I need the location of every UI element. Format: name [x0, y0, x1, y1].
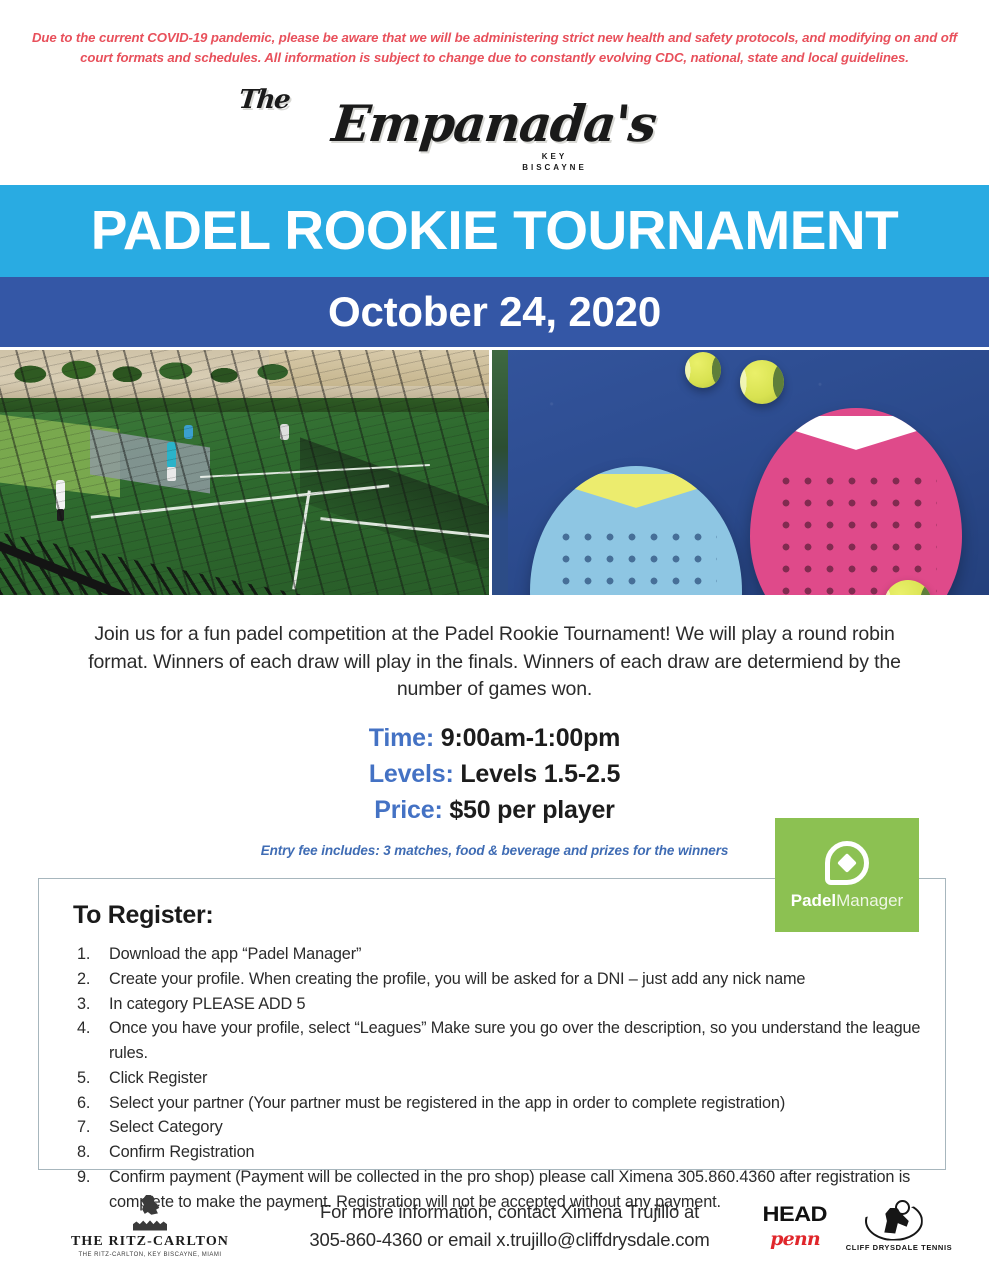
padel-manager-icon	[825, 841, 869, 885]
ritz-carlton-logo: THE RITZ-CARLTON THE RITZ-CARLTON, KEY B…	[0, 1195, 300, 1258]
covid-notice: Due to the current COVID-19 pandemic, pl…	[0, 0, 989, 69]
list-item: Select Category	[69, 1115, 945, 1140]
lion-crest-icon	[133, 1195, 167, 1231]
photo-strip	[0, 350, 989, 595]
detail-row-time: Time: 9:00am-1:00pm	[0, 720, 989, 756]
tournament-date-banner: October 24, 2020	[0, 277, 989, 347]
tennis-ball	[740, 360, 784, 404]
detail-row-levels: Levels: Levels 1.5-2.5	[0, 756, 989, 792]
ritz-carlton-name: THE RITZ-CARLTON	[71, 1234, 229, 1250]
padel-manager-word-light: Manager	[836, 891, 903, 910]
event-details: Time: 9:00am-1:00pm Levels: Levels 1.5-2…	[0, 720, 989, 829]
list-item: Once you have your profile, select “Leag…	[69, 1016, 945, 1066]
tennis-player-icon	[865, 1201, 923, 1241]
empanadas-logo: TheEmpanada's KEY BISCAYNE	[0, 75, 989, 185]
detail-value-time: 9:00am-1:00pm	[441, 724, 620, 752]
head-penn-logo: HEAD penn	[766, 1203, 824, 1250]
padel-rackets-photo	[492, 350, 989, 595]
tournament-title-banner: PADEL ROOKIE TOURNAMENT	[0, 185, 989, 277]
padel-manager-logo: PadelManager	[775, 818, 919, 932]
detail-value-levels: Levels 1.5-2.5	[460, 760, 620, 788]
padel-manager-wordmark: PadelManager	[791, 892, 903, 909]
logo-wordmark: TheEmpanada's	[330, 87, 659, 147]
racket-holes	[555, 526, 716, 595]
event-date: October 24, 2020	[328, 291, 661, 333]
event-description: Join us for a fun padel competition at t…	[0, 595, 989, 704]
cliff-drysdale-tennis-logo: CLIFF DRYSDALE TENNIS	[846, 1201, 942, 1252]
crown-icon	[133, 1220, 167, 1231]
list-item: Confirm Registration	[69, 1140, 945, 1165]
ritz-carlton-location: THE RITZ-CARLTON, KEY BISCAYNE, MIAMI	[78, 1252, 221, 1258]
padel-manager-word-bold: Padel	[791, 891, 836, 910]
head-wordmark: HEAD	[763, 1203, 827, 1227]
turf-edge	[492, 350, 508, 595]
racket-holes	[775, 470, 936, 595]
penn-wordmark: penn	[766, 1228, 824, 1250]
logo-name-text: Empanada's	[329, 94, 658, 153]
contact-info: For more information, contact Ximena Tru…	[300, 1198, 719, 1254]
list-item: Create your profile. When creating the p…	[69, 967, 945, 992]
tennis-ball	[685, 352, 721, 388]
logo-location: KEY BISCAYNE	[522, 151, 587, 173]
sponsor-logos: HEAD penn CLIFF DRYSDALE TENNIS	[719, 1201, 989, 1252]
contact-line-1: For more information, contact Ximena Tru…	[300, 1198, 719, 1226]
contact-line-2: 305-860-4360 or email x.trujillo@cliffdr…	[300, 1226, 719, 1254]
padel-courts-photo	[0, 350, 489, 595]
diamond-icon	[837, 853, 857, 873]
logo-sub-line2: BISCAYNE	[522, 162, 587, 173]
racket-chevron-top	[564, 474, 708, 508]
racket-chevron-top	[784, 416, 928, 450]
list-item: Click Register	[69, 1066, 945, 1091]
lion-icon	[139, 1195, 161, 1218]
detail-label-levels: Levels:	[369, 760, 454, 788]
page-title: PADEL ROOKIE TOURNAMENT	[91, 203, 898, 258]
list-item: Select your partner (Your partner must b…	[69, 1091, 945, 1116]
footer: THE RITZ-CARLTON THE RITZ-CARLTON, KEY B…	[0, 1172, 989, 1280]
detail-value-price: $50 per player	[449, 796, 614, 824]
cliff-drysdale-label: CLIFF DRYSDALE TENNIS	[846, 1243, 942, 1252]
detail-label-time: Time:	[369, 724, 434, 752]
detail-label-price: Price:	[374, 796, 442, 824]
list-item: Download the app “Padel Manager”	[69, 942, 945, 967]
list-item: In category PLEASE ADD 5	[69, 992, 945, 1017]
